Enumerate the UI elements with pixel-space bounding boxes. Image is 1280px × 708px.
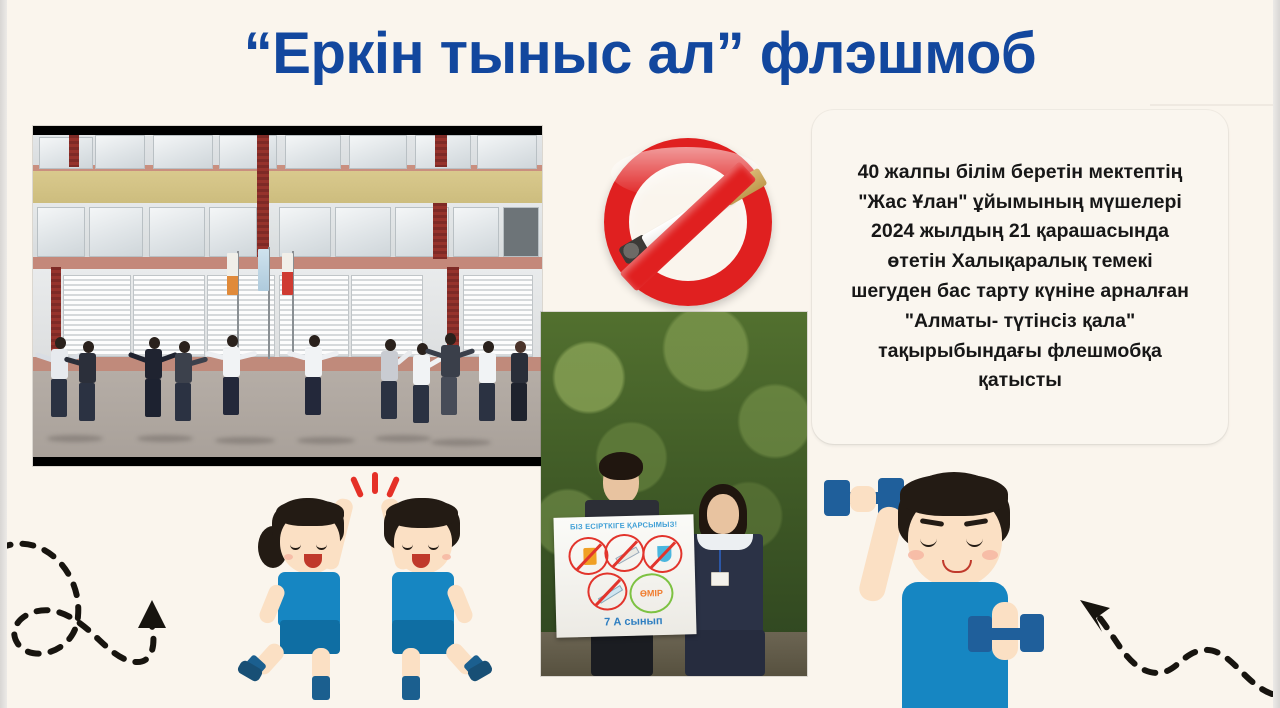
dancer-torso	[223, 347, 240, 377]
student-girl-collar	[697, 534, 753, 550]
poster-class-label: 7 А сынып	[604, 615, 663, 629]
student-boy-hair	[599, 452, 643, 480]
kid-boy-sock-left	[402, 676, 420, 700]
dancer-torso	[175, 353, 192, 383]
kid-boy-cheek-right	[442, 554, 451, 560]
dancer-head	[149, 337, 160, 349]
spark-mark	[386, 476, 400, 499]
student-girl-skirt	[685, 630, 765, 676]
kid-girl-shorts	[280, 620, 340, 654]
dancer-torso	[51, 349, 68, 379]
student-girl-lanyard	[719, 550, 721, 572]
window	[279, 207, 331, 257]
dancer-legs	[511, 383, 527, 421]
window	[349, 135, 407, 169]
window	[477, 135, 537, 169]
student-girl-badge	[711, 572, 729, 586]
poster-photo-ground	[541, 632, 807, 676]
flag-orange	[227, 253, 238, 295]
kid-boy-shorts	[392, 620, 454, 654]
dancer-head	[483, 341, 494, 353]
brick-pier	[433, 203, 447, 259]
dancer-head	[55, 337, 66, 349]
no-smoking-icon	[594, 136, 804, 308]
dumbbell-boy-icon	[816, 462, 1056, 708]
poster-symbol-drink	[642, 534, 683, 573]
photo-flashmob-content	[33, 135, 542, 457]
window	[39, 137, 93, 169]
kid-boy-fringe	[386, 500, 458, 528]
dancer-head	[179, 341, 190, 353]
dancer-torso	[511, 353, 528, 383]
window	[37, 207, 85, 257]
ground-floor-blind	[63, 275, 131, 357]
dancer-shadow	[431, 439, 491, 446]
spark-mark	[372, 472, 378, 494]
kid-boy-shirt	[392, 572, 454, 626]
dumbbell-bar-lower	[990, 628, 1022, 640]
slide-title: “Еркін тыныс ал” флэшмоб	[0, 24, 1280, 85]
poster-symbol-syringe	[587, 572, 628, 611]
flag-red	[282, 253, 293, 295]
kid-girl-cheek-left	[284, 554, 293, 560]
brick-pier	[69, 135, 79, 167]
dancer-torso	[413, 355, 430, 385]
dancer-legs	[223, 377, 239, 415]
dancer-legs	[175, 383, 191, 421]
dancer-legs	[413, 385, 429, 423]
dumbbell-boy-fringe	[900, 474, 1008, 516]
dancer-legs	[479, 383, 495, 421]
dancer-head	[445, 333, 456, 345]
dancer-shadow	[137, 435, 193, 442]
dancer-shadow	[375, 435, 431, 442]
dancer-shadow	[297, 437, 355, 444]
dancer-shadow	[47, 435, 103, 442]
window	[149, 207, 205, 257]
dancer-shadow	[215, 437, 275, 444]
dancer-torso	[479, 353, 496, 383]
dancer-torso	[305, 347, 322, 377]
anti-drug-poster: БІЗ ЕСІРТКІГЕ ҚАРСЫМЫЗ! ӨМІР 7 А сынып	[553, 514, 696, 638]
slide-canvas: “Еркін тыныс ал” флэшмоб	[0, 0, 1280, 708]
dancer-torso	[79, 353, 96, 383]
dumbbell-weight-lower-left	[968, 616, 992, 652]
photo-poster: БІЗ ЕСІРТКІГЕ ҚАРСЫМЫЗ! ӨМІР 7 А сынып	[541, 312, 807, 676]
brick-pier	[435, 135, 447, 167]
dashed-arrow-left-icon	[0, 512, 196, 692]
right-edge-strip	[1273, 0, 1280, 708]
window	[453, 207, 499, 257]
dancer-head	[83, 341, 94, 353]
kid-girl-fringe	[276, 500, 344, 526]
dancer-legs	[79, 383, 95, 421]
kid-girl-shirt	[278, 572, 340, 626]
poster-headline: БІЗ ЕСІРТКІГЕ ҚАРСЫМЫЗ!	[560, 519, 688, 531]
poster-life-circle: ӨМІР	[629, 573, 674, 614]
title-hairline	[1150, 104, 1280, 106]
dumbbell-boy-cheek-right	[982, 550, 998, 560]
dancer-legs	[305, 377, 321, 415]
student-girl-head	[707, 494, 739, 534]
dumbbell-weight-upper-left	[824, 480, 850, 516]
dancer-head	[385, 339, 396, 351]
ground-floor-blind	[133, 275, 205, 357]
dancer-legs	[441, 377, 457, 415]
brick-pier	[257, 135, 269, 257]
building-yellow-band	[33, 171, 542, 203]
window	[153, 135, 213, 169]
building-plinth	[33, 357, 542, 371]
window-open	[503, 207, 539, 257]
dancer-torso	[441, 345, 460, 377]
kid-girl-sock-right	[312, 676, 330, 700]
dumbbell-boy-cheek-left	[908, 550, 924, 560]
dancer-torso	[381, 351, 398, 381]
spark-mark	[350, 476, 364, 499]
dancer-legs	[381, 381, 397, 419]
description-text: 40 жалпы білім беретін мектептің "Жас Ұл…	[846, 158, 1194, 397]
flag-blue	[258, 249, 269, 291]
photo-flashmob	[33, 126, 542, 466]
window	[335, 207, 391, 257]
high-five-kids-icon	[236, 472, 514, 700]
left-edge-strip	[0, 0, 7, 708]
window	[89, 207, 143, 257]
dumbbell-boy-hand-upper	[850, 486, 876, 512]
dancer-legs	[145, 379, 161, 417]
window	[95, 135, 145, 169]
dashed-arrow-right-icon	[1058, 568, 1280, 700]
poster-symbol-cigarette	[604, 533, 645, 572]
dancer-head	[515, 341, 526, 353]
dancer-head	[227, 335, 238, 347]
dumbbell-weight-lower-right	[1020, 614, 1044, 652]
description-card: 40 жалпы білім беретін мектептің "Жас Ұл…	[812, 110, 1228, 444]
poster-symbol-alcohol	[568, 536, 609, 575]
dancer-head	[309, 335, 320, 347]
dancer-torso	[145, 349, 162, 379]
window	[209, 207, 257, 257]
window	[285, 135, 341, 169]
dancer-legs	[51, 379, 67, 417]
